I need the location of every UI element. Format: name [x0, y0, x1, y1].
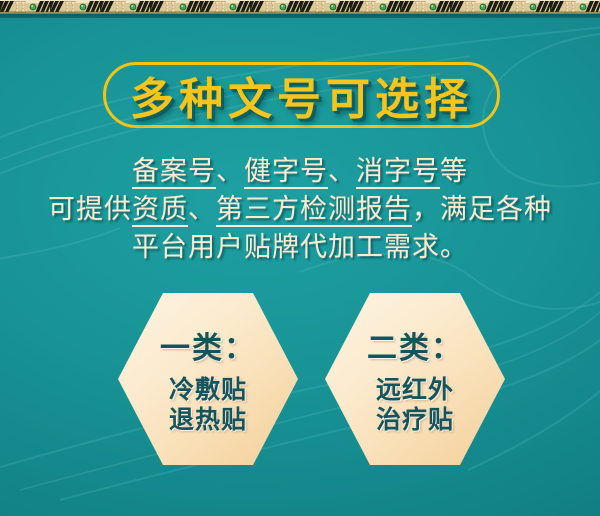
description-underlined-term: 健字号 [244, 156, 328, 189]
description-text: 、 [328, 156, 356, 186]
category-1-item-2: 退热贴 [169, 406, 247, 436]
description-text: 等 [440, 156, 468, 186]
category-1-heading: 一类： [160, 323, 256, 367]
description-underlined-term: 资质 [132, 194, 188, 227]
promo-poster: 多种文号可选择 备案号、健字号、消字号等 可提供资质、第三方检测报告，满足各种 … [0, 0, 600, 516]
band-underline [0, 14, 600, 18]
category-2-item-2: 治疗贴 [376, 406, 454, 436]
description-underlined-term: 第三方检测报告 [216, 194, 412, 227]
description-line: 可提供资质、第三方检测报告，满足各种 [0, 190, 600, 228]
description-text: ，满足各种 [412, 194, 552, 224]
category-2-heading: 二类： [367, 323, 463, 367]
category-2-item-1: 远红外 [376, 376, 454, 406]
description-line: 备案号、健字号、消字号等 [0, 152, 600, 190]
description-text: 、 [216, 156, 244, 186]
description-underlined-term: 备案号 [132, 156, 216, 189]
description-text: 、 [188, 194, 216, 224]
description-text: 平台用户贴牌代加工需求。 [132, 232, 468, 262]
category-1-item-1: 冷敷贴 [169, 376, 247, 406]
description-paragraph: 备案号、健字号、消字号等 可提供资质、第三方检测报告，满足各种 平台用户贴牌代加… [0, 152, 600, 266]
page-title: 多种文号可选择 [103, 62, 500, 128]
description-text: 可提供 [48, 194, 132, 224]
description-line: 平台用户贴牌代加工需求。 [0, 228, 600, 266]
description-underlined-term: 消字号 [356, 156, 440, 189]
